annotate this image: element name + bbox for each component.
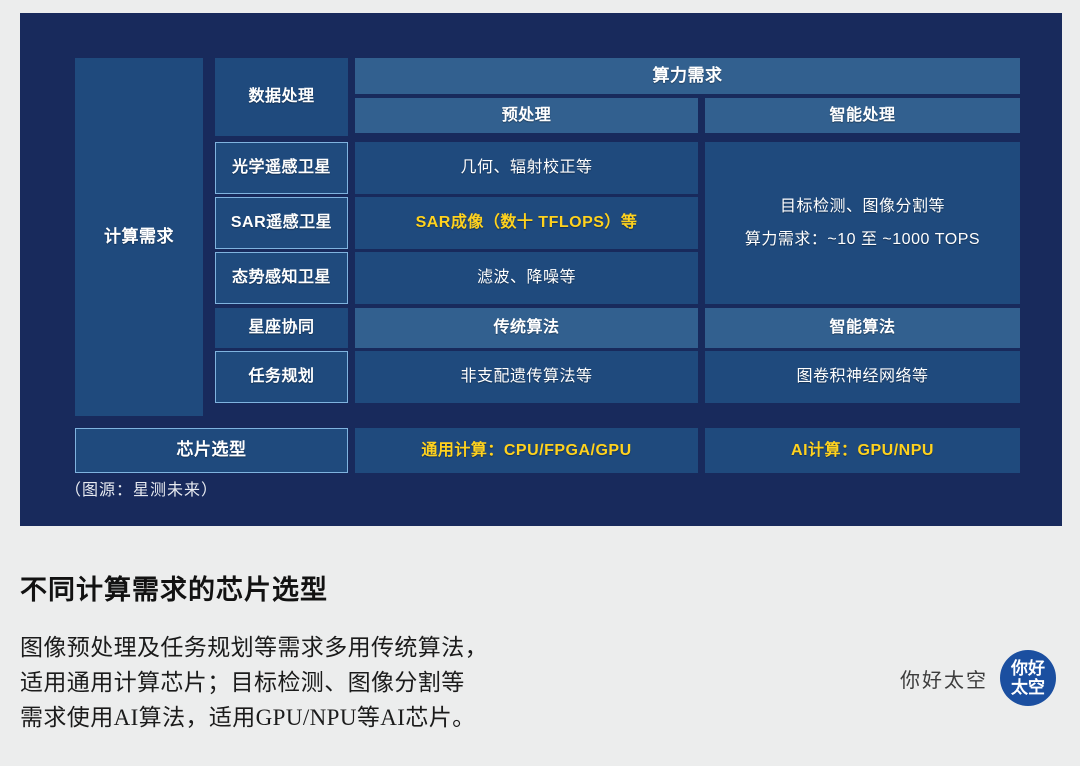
cell-general-computing-chips: 通用计算：CPU/FPGA/GPU bbox=[355, 428, 698, 473]
cell-optical-remote-sensing-satellite: 光学遥感卫星 bbox=[215, 142, 348, 194]
object-detection-line-1: 目标检测、图像分割等 bbox=[780, 195, 945, 218]
caption-block: 不同计算需求的芯片选型 图像预处理及任务规划等需求多用传统算法， 适用通用计算芯… bbox=[20, 568, 880, 736]
cell-mission-planning: 任务规划 bbox=[215, 351, 348, 403]
caption-line-1: 图像预处理及任务规划等需求多用传统算法， bbox=[20, 631, 880, 666]
brand-badge-line-1: 你好 bbox=[1011, 660, 1045, 677]
cell-non-dominated-genetic-algorithm: 非支配遗传算法等 bbox=[355, 351, 698, 403]
cell-graph-convolutional-network: 图卷积神经网络等 bbox=[705, 351, 1020, 403]
cell-ai-computing-chips: AI计算：GPU/NPU bbox=[705, 428, 1020, 473]
cell-chip-selection-label: 芯片选型 bbox=[75, 428, 348, 473]
cell-geometric-radiometric-correction: 几何、辐射校正等 bbox=[355, 142, 698, 194]
cell-sar-imaging-tflops: SAR成像（数十 TFLOPS）等 bbox=[355, 197, 698, 249]
brand-badge-line-2: 太空 bbox=[1011, 679, 1045, 696]
header-intelligent-processing: 智能处理 bbox=[705, 98, 1020, 133]
header-intelligent-algorithm: 智能算法 bbox=[705, 308, 1020, 348]
cell-filtering-denoising: 滤波、降噪等 bbox=[355, 252, 698, 304]
brand-logo-icon: 你好 太空 bbox=[1000, 650, 1056, 706]
header-traditional-algorithm: 传统算法 bbox=[355, 308, 698, 348]
caption-line-2: 适用通用计算芯片；目标检测、图像分割等 bbox=[20, 666, 880, 701]
caption-line-3: 需求使用AI算法，适用GPU/NPU等AI芯片。 bbox=[20, 701, 880, 736]
diagram-panel: 计算需求 数据处理 光学遥感卫星 SAR遥感卫星 态势感知卫星 星座协同 任务规… bbox=[20, 13, 1062, 526]
header-preprocessing: 预处理 bbox=[355, 98, 698, 133]
header-compute-power-demand: 算力需求 bbox=[355, 58, 1020, 94]
chip-selection-row: 芯片选型 通用计算：CPU/FPGA/GPU AI计算：GPU/NPU bbox=[75, 428, 1020, 473]
object-detection-line-2: 算力需求：~10 至 ~1000 TOPS bbox=[745, 228, 980, 251]
cell-object-detection-segmentation: 目标检测、图像分割等 算力需求：~10 至 ~1000 TOPS bbox=[705, 142, 1020, 304]
cell-sar-remote-sensing-satellite: SAR遥感卫星 bbox=[215, 197, 348, 249]
cell-data-processing: 数据处理 bbox=[215, 58, 348, 136]
cell-constellation-coordination: 星座协同 bbox=[215, 308, 348, 348]
diagram-matrix: 计算需求 数据处理 光学遥感卫星 SAR遥感卫星 态势感知卫星 星座协同 任务规… bbox=[75, 58, 1020, 416]
diagram-source-note: （图源：星测未来） bbox=[65, 476, 218, 500]
caption-title: 不同计算需求的芯片选型 bbox=[20, 568, 880, 607]
caption-body: 图像预处理及任务规划等需求多用传统算法， 适用通用计算芯片；目标检测、图像分割等… bbox=[20, 631, 880, 736]
cell-situational-awareness-satellite: 态势感知卫星 bbox=[215, 252, 348, 304]
brand-name: 你好太空 bbox=[900, 664, 988, 693]
cell-compute-demand: 计算需求 bbox=[75, 58, 203, 416]
brand-watermark: 你好太空 你好 太空 bbox=[900, 650, 1056, 706]
